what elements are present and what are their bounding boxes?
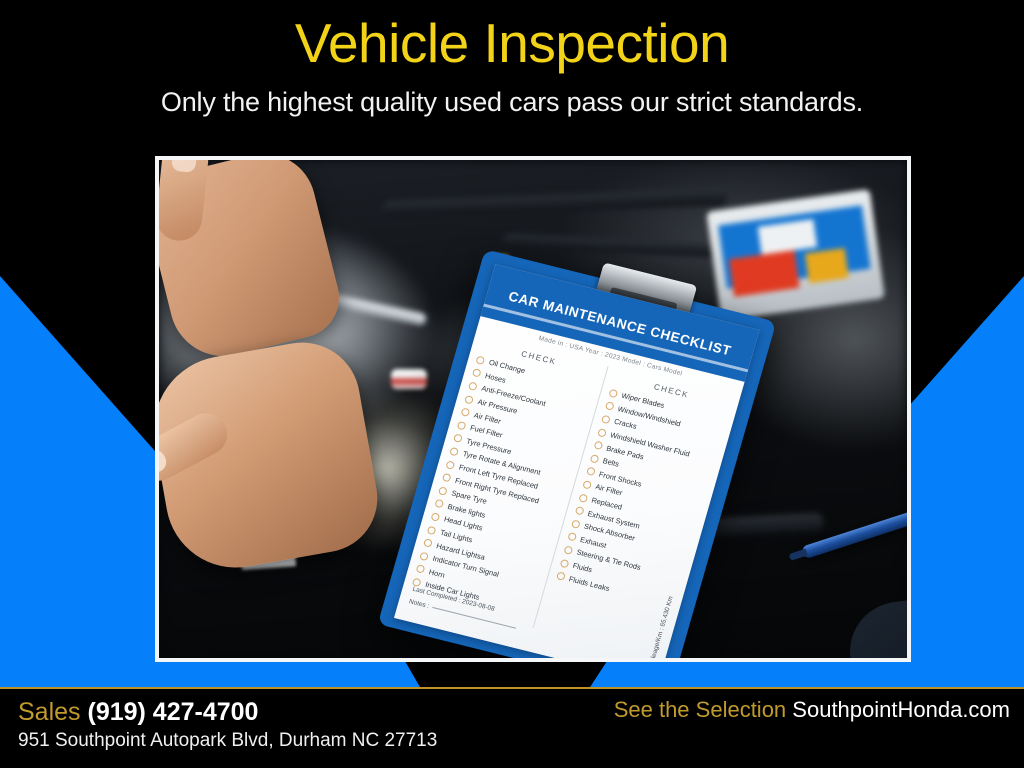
checkbox-circle-icon (453, 434, 463, 444)
car-battery (706, 189, 884, 320)
checkbox-circle-icon (460, 408, 470, 418)
dealer-address: 951 Southpoint Autopark Blvd, Durham NC … (18, 730, 437, 752)
checkbox-circle-icon (585, 467, 595, 477)
checkbox-circle-icon (593, 441, 603, 451)
checkbox-circle-icon (570, 519, 580, 529)
checkbox-circle-icon (578, 493, 588, 503)
see-selection-line: See the Selection SouthpointHonda.com (614, 697, 1010, 723)
checkbox-circle-icon (438, 486, 448, 496)
checkbox-circle-icon (445, 460, 455, 470)
checkbox-circle-icon (600, 414, 610, 424)
checkbox-circle-icon (475, 355, 485, 365)
page-title: Vehicle Inspection (0, 0, 1024, 71)
checkbox-circle-icon (555, 571, 565, 581)
checkbox-circle-icon (434, 499, 444, 509)
photo-content: CAR MAINTENANCE CHECKLIST Made in : USA … (159, 160, 907, 658)
index-finger (159, 406, 234, 488)
page-subtitle: Only the highest quality used cars pass … (0, 71, 1024, 116)
checkbox-circle-icon (468, 381, 478, 391)
slide-canvas: Vehicle Inspection Only the highest qual… (0, 0, 1024, 768)
inspection-photo: CAR MAINTENANCE CHECKLIST Made in : USA … (155, 156, 911, 662)
technician-hand-writing (159, 333, 386, 578)
blue-band-notch (400, 661, 612, 687)
battery-label-yellow (805, 248, 848, 284)
checkbox-circle-icon (597, 428, 607, 438)
checkbox-circle-icon (449, 447, 459, 457)
checkbox-circle-icon (567, 532, 577, 542)
checkbox-circle-icon (415, 564, 425, 574)
checkbox-circle-icon (559, 558, 569, 568)
checkbox-circle-icon (608, 388, 618, 398)
checkbox-circle-icon (457, 421, 467, 431)
checkbox-circle-icon (563, 545, 573, 555)
checkbox-circle-icon (574, 506, 584, 516)
checkbox-circle-icon (464, 395, 474, 405)
sales-line: Sales (919) 427-4700 (18, 698, 258, 727)
sales-phone[interactable]: (919) 427-4700 (88, 698, 259, 726)
checkbox-circle-icon (442, 473, 452, 483)
sales-label: Sales (18, 698, 81, 726)
headline-block: Vehicle Inspection Only the highest qual… (0, 0, 1024, 116)
contact-footer: Sales (919) 427-4700 951 Southpoint Auto… (0, 689, 1024, 768)
see-selection-label: See the Selection (614, 697, 786, 722)
checkbox-circle-icon (430, 512, 440, 522)
checkbox-circle-icon (419, 551, 429, 561)
checkbox-circle-icon (582, 480, 592, 490)
checkbox-circle-icon (589, 454, 599, 464)
thumb (159, 160, 210, 243)
checkbox-circle-icon (604, 401, 614, 411)
checkbox-circle-icon (472, 368, 482, 378)
checkbox-circle-icon (423, 538, 433, 548)
checkbox-circle-icon (427, 525, 437, 535)
coolant-cap (391, 369, 427, 389)
website-link[interactable]: SouthpointHonda.com (792, 697, 1010, 722)
